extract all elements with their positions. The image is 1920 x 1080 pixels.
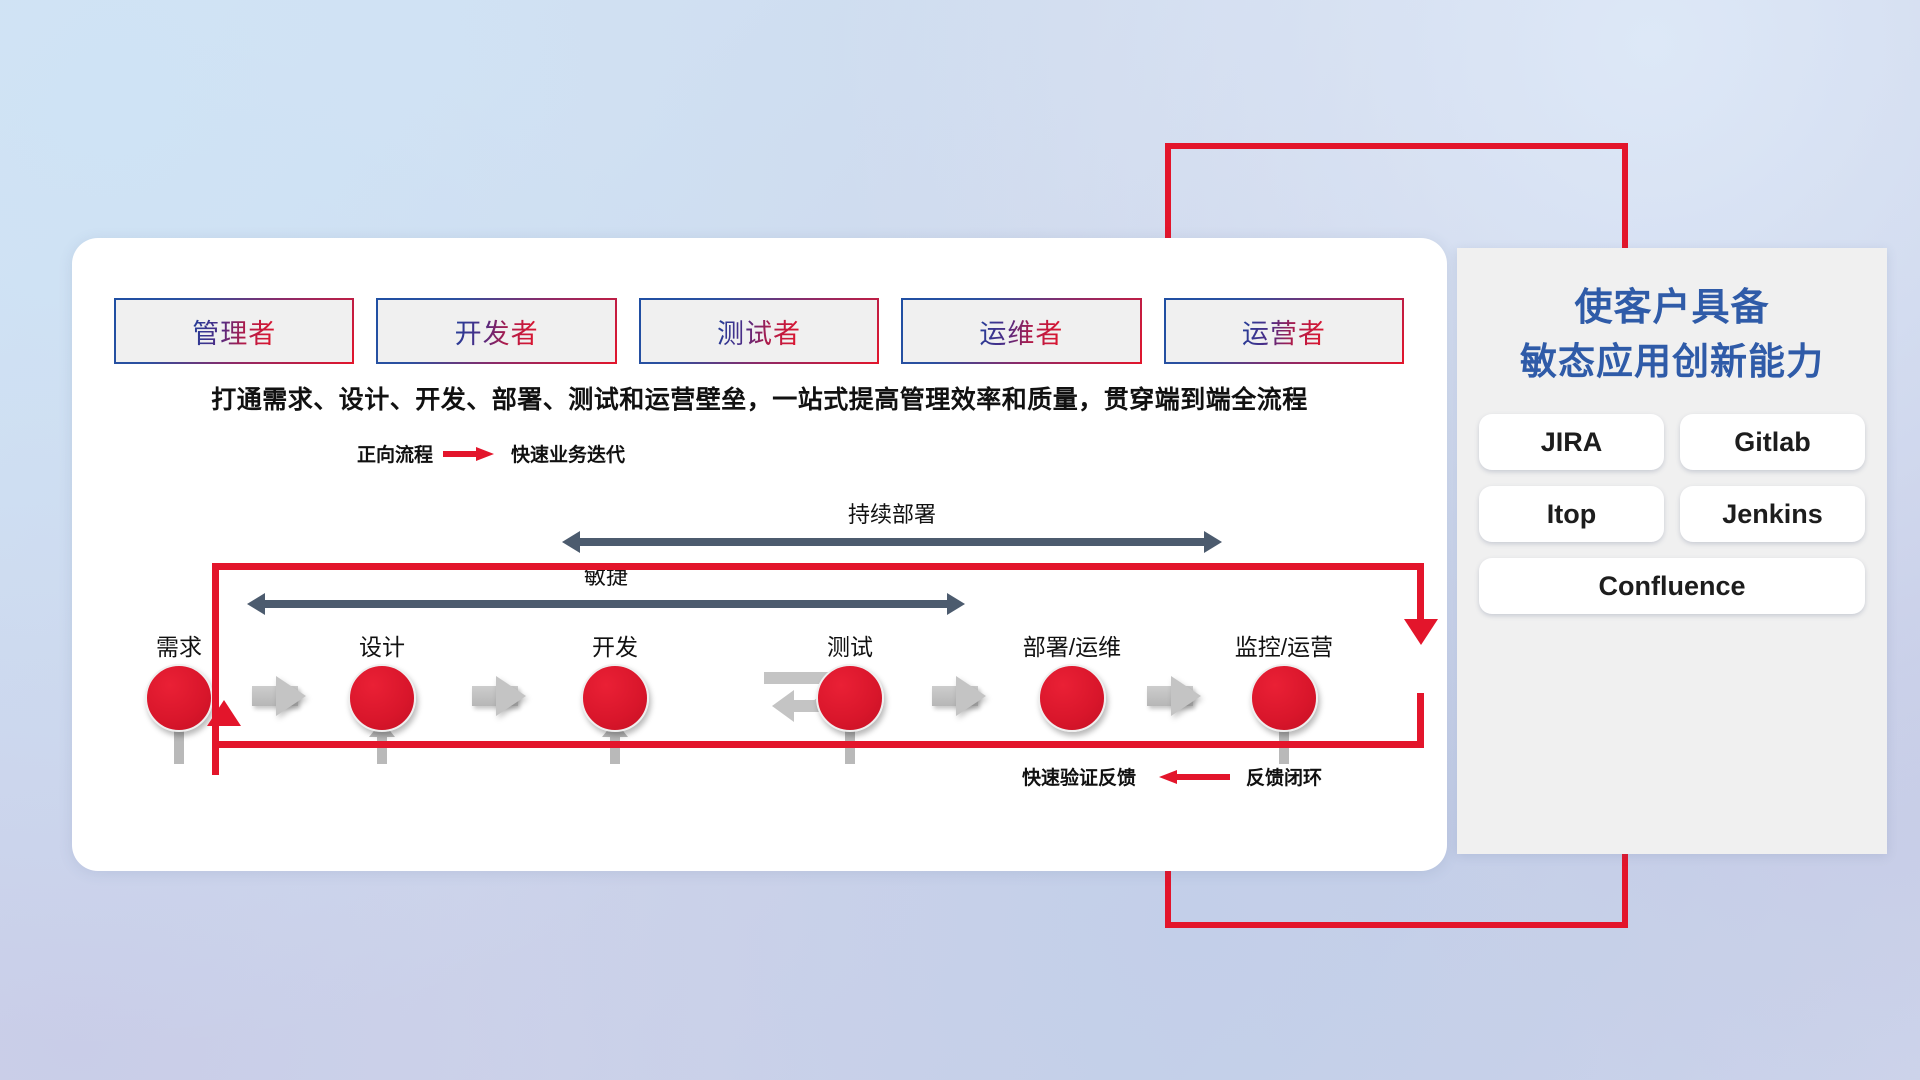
role-label: 测试者 [717, 312, 801, 351]
arrow-head-right-icon [947, 593, 965, 615]
stage-bubble [816, 664, 884, 732]
role-box-developer[interactable]: 开发者 [376, 298, 616, 364]
stage-bubble [1038, 664, 1106, 732]
role-label: 开发者 [455, 312, 539, 351]
role-label: 运维者 [979, 312, 1063, 351]
red-arrow-left-icon [1152, 770, 1230, 783]
span-arrow-caption: 持续部署 [562, 497, 1222, 529]
feedback-loop-right-upper-line [1417, 563, 1424, 623]
tool-chip-jenkins[interactable]: Jenkins [1680, 486, 1865, 542]
arrow-head [1171, 676, 1221, 716]
tool-chip-gitlab[interactable]: Gitlab [1680, 414, 1865, 470]
stage-bubble [348, 664, 416, 732]
panel-title-line2: 敏态应用创新能力 [1457, 336, 1887, 389]
role-box-tester[interactable]: 测试者 [639, 298, 879, 364]
legend-forward-flow: 正向流程 快速业务迭代 [357, 440, 625, 467]
card-description: 打通需求、设计、开发、部署、测试和运营壁垒，一站式提高管理效率和质量，贯穿端到端… [72, 380, 1447, 416]
tool-chip-itop[interactable]: Itop [1479, 486, 1664, 542]
role-box-ops[interactable]: 运维者 [901, 298, 1141, 364]
feedback-loop-arrow-down-icon [1404, 619, 1438, 662]
arrow-head-right-icon [1204, 531, 1222, 553]
role-label: 运营者 [1242, 312, 1326, 351]
stage-bubble [581, 664, 649, 732]
stage-label: 测试 [790, 628, 910, 662]
stage-label: 设计 [322, 628, 442, 662]
legend-feedback-left-label: 快速验证反馈 [1022, 763, 1136, 790]
arrow-head [956, 676, 1006, 716]
flow-arrow-deploy-to-monitor-icon [1147, 676, 1221, 716]
flow-arrow-req-to-design-icon [252, 676, 326, 716]
stage-label: 开发 [555, 628, 675, 662]
role-box-row: 管理者 开发者 测试者 运维者 运营者 [114, 298, 1404, 364]
stage-design[interactable]: 设计 [322, 628, 442, 732]
span-arrow-agile: 敏捷 [247, 593, 965, 615]
process-card: 管理者 开发者 测试者 运维者 运营者 打通需求、设计、开发、部署、测试和运营壁… [72, 238, 1447, 871]
stage-label: 监控/运营 [1224, 628, 1344, 662]
red-arrow-right-icon [443, 447, 501, 460]
tool-chip-list: JIRA Gitlab Itop Jenkins Confluence [1479, 414, 1865, 614]
span-arrow-continuous-deployment: 持续部署 [562, 531, 1222, 553]
stage-bubble [145, 664, 213, 732]
stage-label: 部署/运维 [1012, 628, 1132, 662]
panel-title-line1: 使客户具备 [1457, 282, 1887, 336]
stage-bubble [1250, 664, 1318, 732]
arrow-bar [263, 600, 949, 608]
legend-forward-left-label: 正向流程 [357, 440, 433, 467]
tool-chip-jira[interactable]: JIRA [1479, 414, 1664, 470]
legend-feedback-loop: 快速验证反馈 反馈闭环 [1022, 763, 1322, 790]
role-label: 管理者 [192, 312, 276, 351]
role-box-manager[interactable]: 管理者 [114, 298, 354, 364]
stage-development[interactable]: 开发 [555, 628, 675, 732]
stage-monitor-operations[interactable]: 监控/运营 [1224, 628, 1344, 732]
tool-chip-confluence[interactable]: Confluence [1479, 558, 1865, 614]
stage-label: 需求 [119, 628, 239, 662]
value-panel: 使客户具备 敏态应用创新能力 JIRA Gitlab Itop Jenkins … [1457, 248, 1887, 854]
feedback-loop-arrow-up-icon [207, 683, 241, 726]
arrow-head [276, 676, 326, 716]
arrow-head [496, 676, 546, 716]
feedback-loop-right-lower-line [1417, 693, 1424, 748]
legend-feedback-right-label: 反馈闭环 [1246, 763, 1322, 790]
flow-arrow-test-to-deploy-icon [932, 676, 1006, 716]
flow-arrow-design-to-dev-icon [472, 676, 546, 716]
role-box-operations[interactable]: 运营者 [1164, 298, 1404, 364]
arrow-bar [578, 538, 1206, 546]
feedback-loop-bottom-line [212, 741, 1424, 748]
panel-title: 使客户具备 敏态应用创新能力 [1457, 282, 1887, 388]
stage-deploy-ops[interactable]: 部署/运维 [1012, 628, 1132, 732]
feedback-loop-top-line [212, 563, 1424, 570]
legend-forward-right-label: 快速业务迭代 [511, 440, 625, 467]
